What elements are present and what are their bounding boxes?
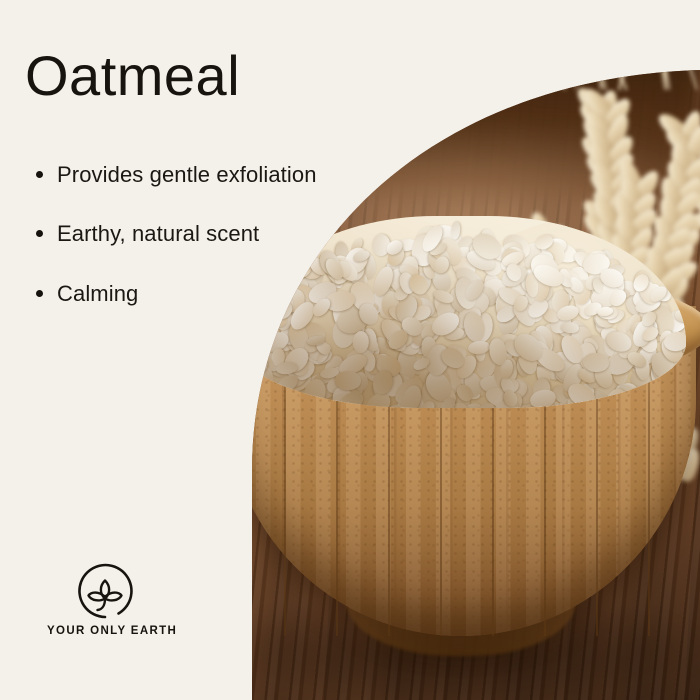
- wheat-stem: [418, 0, 606, 91]
- wheat-stem: [486, 0, 628, 91]
- oat-flake: [238, 401, 259, 408]
- leaf-in-circle-icon: [74, 560, 136, 622]
- oat-flake: [238, 400, 251, 408]
- oat-flake: [238, 378, 254, 406]
- wheat-stem: [505, 0, 540, 90]
- list-item: Calming: [30, 279, 330, 308]
- list-item: Provides gentle exfoliation: [30, 160, 330, 189]
- oat-flake: [239, 339, 260, 372]
- wheat-stem: [447, 0, 628, 91]
- oat-flake: [243, 342, 271, 369]
- oat-flake: [238, 376, 255, 393]
- list-item: Earthy, natural scent: [30, 219, 330, 248]
- oat-flake: [240, 340, 261, 356]
- oat-flake: [245, 352, 262, 363]
- wheat-stem: [495, 0, 607, 90]
- oat-flake: [238, 366, 255, 392]
- oat-flake: [243, 345, 262, 367]
- ingredient-card: Oatmeal Provides gentle exfoliation Eart…: [0, 0, 700, 700]
- oat-flake: [238, 397, 258, 408]
- brand-logo: YOUR ONLY EARTH: [45, 560, 235, 637]
- benefits-list: Provides gentle exfoliation Earthy, natu…: [30, 160, 330, 338]
- wheat-stem: [583, 0, 603, 90]
- oat-flake: [238, 392, 255, 408]
- oat-flake: [239, 346, 263, 376]
- wheat-stem: [504, 0, 545, 90]
- page-title: Oatmeal: [25, 48, 240, 104]
- wheat-stem: [533, 0, 567, 90]
- brand-name: YOUR ONLY EARTH: [47, 625, 235, 637]
- oat-flake: [335, 370, 362, 390]
- wheat-stem: [574, 0, 603, 90]
- oat-flake: [238, 367, 255, 384]
